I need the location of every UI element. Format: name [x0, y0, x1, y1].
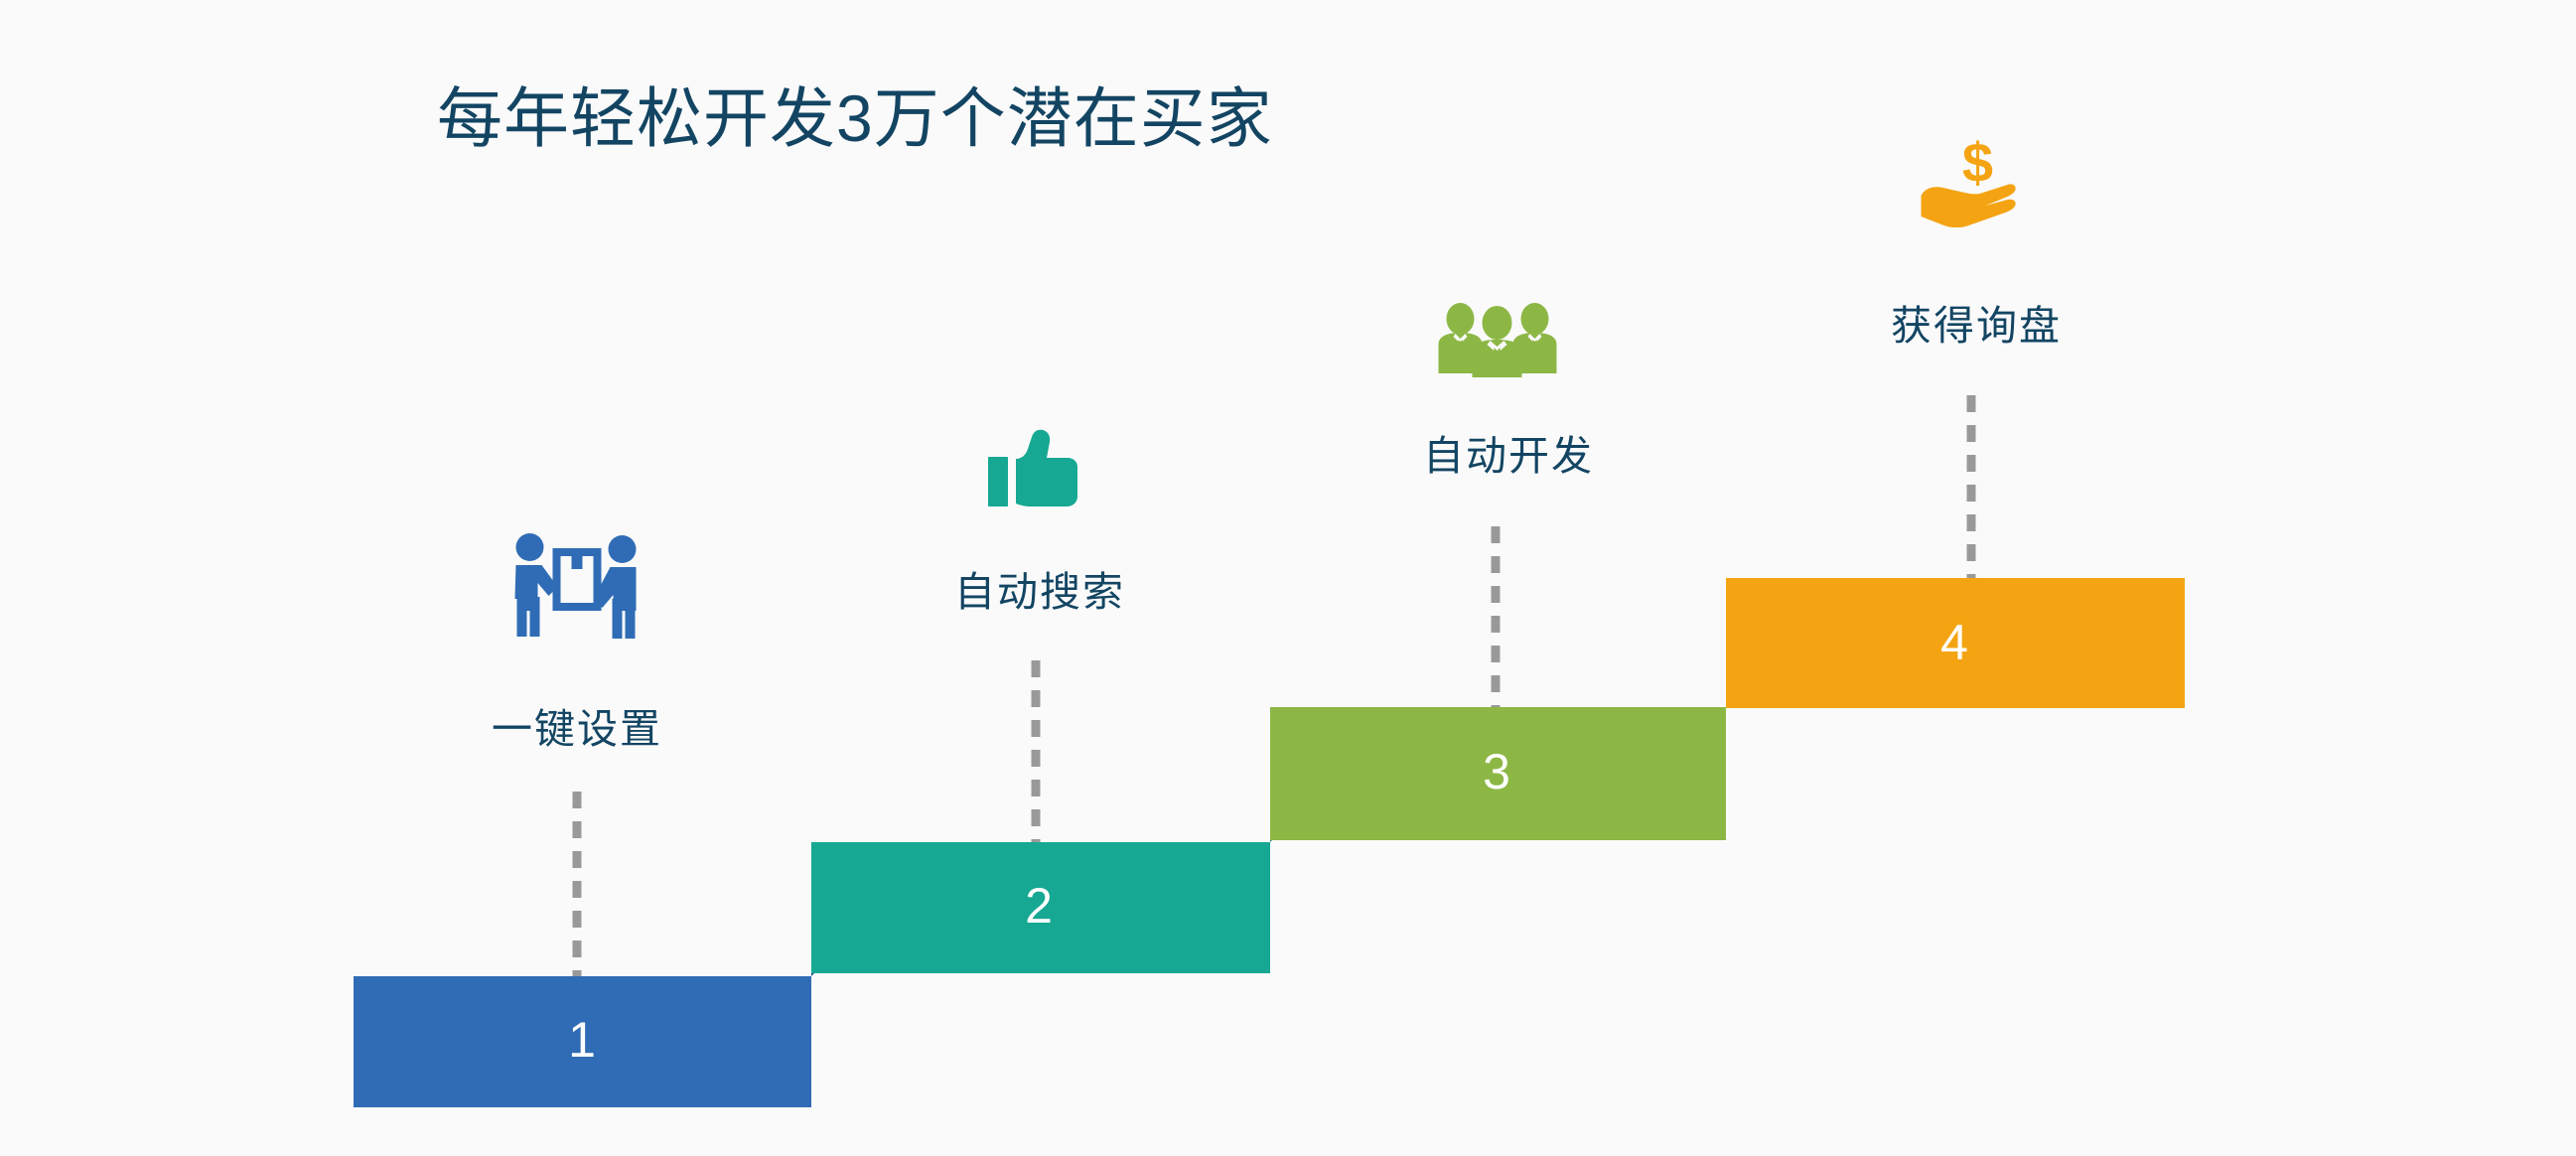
step-number-2: 2 [979, 877, 1098, 935]
step-caption-4: 获得询盘 [1891, 292, 2062, 352]
two-people-carrying-box-icon [500, 527, 653, 651]
step-ramp-4 [1726, 578, 1856, 708]
step-number-3: 3 [1437, 743, 1556, 800]
svg-text:$: $ [1962, 138, 1993, 194]
hand-with-dollar-icon: $ [1922, 138, 2036, 227]
step-ramp-3 [1270, 707, 1400, 842]
staircase-graphic [0, 0, 2576, 1156]
step-caption-3: 自动开发 [1423, 422, 1594, 482]
step-caption-1: 一键设置 [492, 695, 662, 755]
infographic-canvas: 每年轻松开发3万个潜在买家 [0, 0, 2576, 1156]
step-number-1: 1 [522, 1011, 642, 1069]
thumbs-up-icon [986, 429, 1085, 518]
step-number-4: 4 [1895, 614, 2014, 671]
three-people-group-icon [1436, 303, 1560, 377]
step-ramp-2 [811, 842, 942, 976]
page-title: 每年轻松开发3万个潜在买家 [437, 81, 1273, 157]
step-caption-2: 自动搜索 [954, 558, 1125, 618]
